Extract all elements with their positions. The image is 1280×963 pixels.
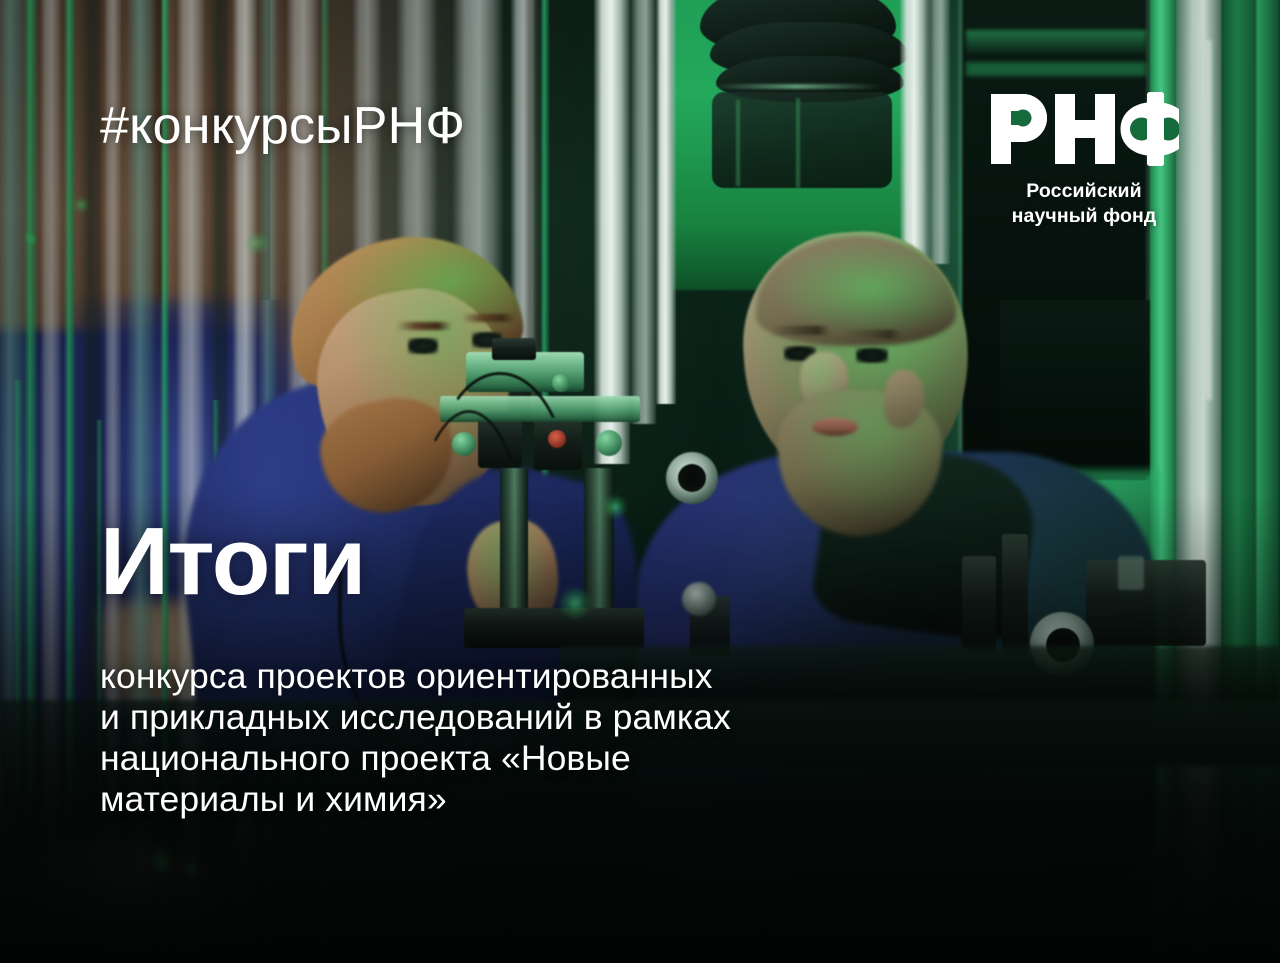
subtitle-block: конкурса проектов ориентированных и прик… (100, 656, 731, 820)
poster-canvas: #конкурсыРНФ (0, 0, 1280, 963)
rnf-caption-line-1: Российский (1026, 180, 1141, 202)
rnf-caption-line-2: научный фонд (1012, 205, 1157, 227)
subtitle-line: и прикладных исследований в рамках (100, 697, 731, 738)
subtitle-line: материалы и химия» (100, 779, 731, 820)
rnf-logo-mark (989, 92, 1179, 166)
campaign-hashtag: #конкурсыРНФ (100, 100, 465, 152)
rnf-logo: Российский научный фонд (986, 92, 1182, 229)
subtitle-line: национального проекта «Новые (100, 738, 731, 779)
subtitle-line: конкурса проектов ориентированных (100, 656, 731, 697)
rnf-logo-caption: Российский научный фонд (1012, 179, 1157, 229)
page-title: Итоги (100, 518, 365, 606)
